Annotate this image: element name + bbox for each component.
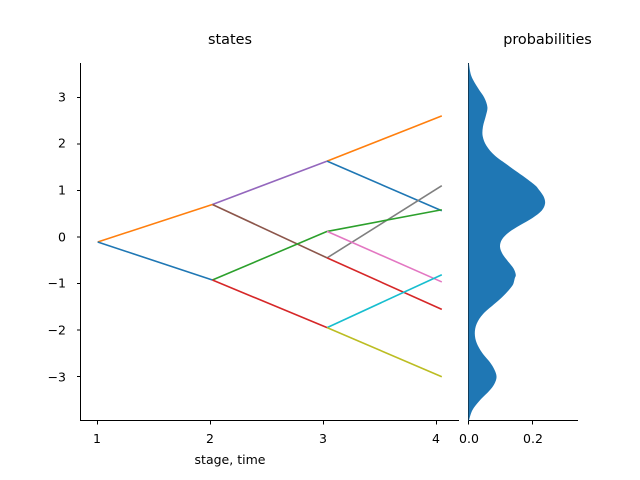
state-branch: [327, 161, 442, 211]
matplotlib-figure: states stage, time 3 2 1 0 −1 −2 −3 1 2 …: [0, 0, 640, 480]
probability-density-area: [469, 63, 546, 421]
state-branch: [98, 204, 213, 242]
state-branch: [327, 328, 442, 377]
states-plot-canvas: [0, 0, 460, 480]
state-branch: [212, 280, 327, 328]
state-branch: [327, 186, 442, 258]
state-branch: [327, 231, 442, 282]
probs-xtick-marks: [469, 421, 533, 425]
probabilities-plot-canvas: [455, 0, 640, 480]
states-xtick-marks: [98, 421, 437, 425]
state-tree-lines: [98, 116, 442, 377]
state-branch: [212, 231, 327, 280]
probabilities-axes: probabilities 0.0 0.2: [455, 0, 640, 480]
state-branch: [212, 204, 327, 257]
states-axes: states stage, time 3 2 1 0 −1 −2 −3 1 2 …: [0, 0, 460, 480]
state-branch: [212, 161, 327, 204]
state-branch: [98, 242, 213, 280]
state-branch: [327, 116, 442, 161]
states-ytick-marks: [77, 98, 81, 377]
state-branch: [327, 210, 442, 232]
